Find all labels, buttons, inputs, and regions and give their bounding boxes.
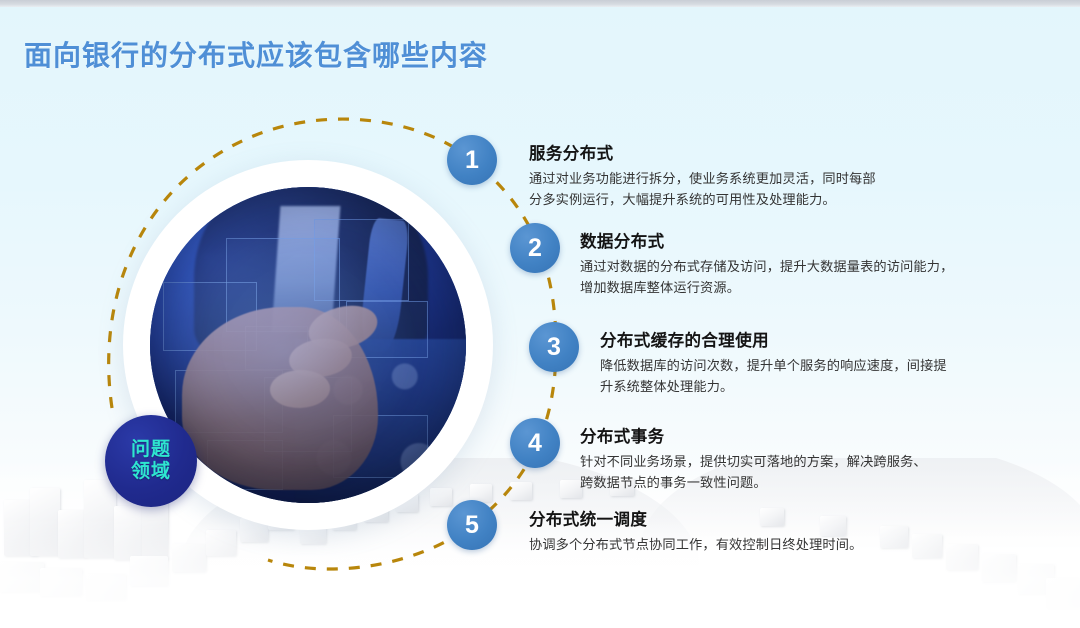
item-title-3: 分布式缓存的合理使用: [600, 327, 1010, 351]
top-gray-strip: [0, 0, 1080, 7]
item-body-3: 降低数据库的访问次数，提升单个服务的响应速度，间接提 升系统整体处理能力。: [600, 355, 1010, 398]
item-body-1: 通过对业务功能进行拆分，使业务系统更加灵活，同时每部 分多实例运行，大幅提升系统…: [529, 168, 959, 211]
item-body-4: 针对不同业务场景，提供切实可落地的方案，解决跨服务、 跨数据节点的事务一致性问题…: [580, 451, 1000, 494]
item-content-2: 数据分布式 通过对数据的分布式存储及访问，提升大数据量表的访问能力， 增加数据库…: [580, 228, 1000, 299]
hero-photo-circle: [150, 187, 466, 503]
problem-domain-badge[interactable]: 问题 领域: [105, 415, 197, 507]
item-number-5[interactable]: 5: [447, 500, 497, 550]
item-content-4: 分布式事务 针对不同业务场景，提供切实可落地的方案，解决跨服务、 跨数据节点的事…: [580, 423, 1000, 494]
item-number-2[interactable]: 2: [510, 223, 560, 273]
item-title-2: 数据分布式: [580, 228, 1000, 252]
item-body-2: 通过对数据的分布式存储及访问，提升大数据量表的访问能力， 增加数据库整体运行资源…: [580, 256, 1000, 299]
item-number-4[interactable]: 4: [510, 418, 560, 468]
item-body-5: 协调多个分布式节点协同工作，有效控制日终处理时间。: [529, 534, 959, 555]
badge-line-1: 问题: [131, 439, 171, 461]
item-title-5: 分布式统一调度: [529, 506, 959, 530]
page-title: 面向银行的分布式应该包含哪些内容: [24, 34, 488, 74]
badge-line-2: 领域: [131, 461, 171, 483]
slide-canvas: 面向银行的分布式应该包含哪些内容 问题 领域: [0, 0, 1080, 628]
item-number-3[interactable]: 3: [529, 322, 579, 372]
item-number-1[interactable]: 1: [447, 135, 497, 185]
item-title-4: 分布式事务: [580, 423, 1000, 447]
item-content-1: 服务分布式 通过对业务功能进行拆分，使业务系统更加灵活，同时每部 分多实例运行，…: [529, 140, 959, 211]
item-content-5: 分布式统一调度 协调多个分布式节点协同工作，有效控制日终处理时间。: [529, 506, 959, 555]
item-content-3: 分布式缓存的合理使用 降低数据库的访问次数，提升单个服务的响应速度，间接提 升系…: [600, 327, 1010, 398]
item-title-1: 服务分布式: [529, 140, 959, 164]
